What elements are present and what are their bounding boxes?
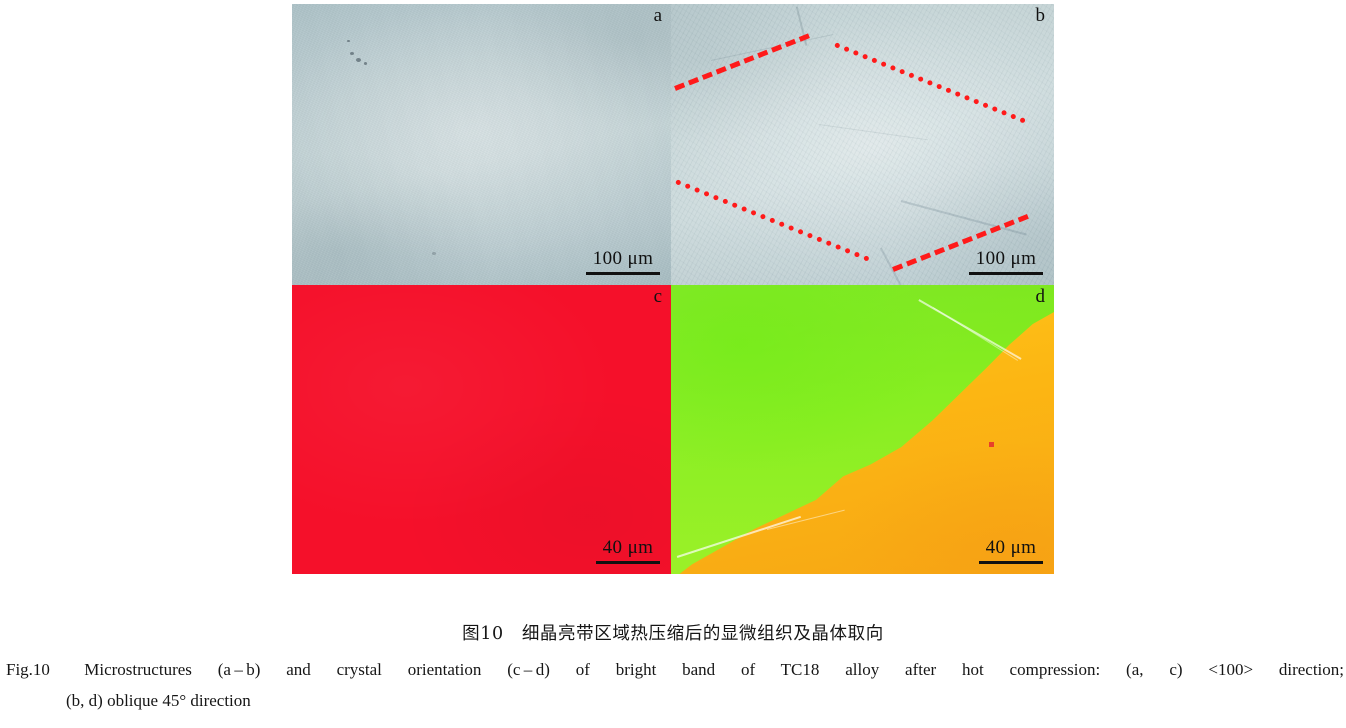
defect-speck <box>432 252 436 255</box>
defect-speck <box>350 52 354 55</box>
figure-caption-english-line2: (b, d) oblique 45° direction <box>6 685 1344 716</box>
figure-caption-chinese: 图10 细晶亮带区域热压缩后的显微组织及晶体取向 <box>0 620 1346 645</box>
scalebar-d: 40 μm <box>979 538 1043 564</box>
figure-caption-english: Fig.10 Microstructures (a – b) and cryst… <box>6 654 1344 716</box>
scalebar-label-c: 40 μm <box>596 538 660 558</box>
figure-image-block: a 100 μm b 100 μm c 40 μm <box>292 4 1054 574</box>
panel-letter-c: c <box>654 287 662 306</box>
scalebar-label-b: 100 μm <box>969 249 1043 269</box>
panel-letter-b: b <box>1036 6 1046 25</box>
scalebar-label-d: 40 μm <box>979 538 1043 558</box>
panel-letter-a: a <box>654 6 662 25</box>
panel-a: a 100 μm <box>292 4 671 285</box>
scalebar-line-a <box>586 272 660 275</box>
figure-caption-english-line1: Fig.10 Microstructures (a – b) and cryst… <box>6 654 1344 685</box>
scalebar-c: 40 μm <box>596 538 660 564</box>
panel-d: d 40 μm <box>671 285 1054 574</box>
scalebar-line-d <box>979 561 1043 564</box>
defect-speck <box>347 40 350 42</box>
scalebar-line-c <box>596 561 660 564</box>
micrograph-b-surface <box>671 4 1054 285</box>
scalebar-line-b <box>969 272 1043 275</box>
micrograph-a-surface <box>292 4 671 285</box>
scalebar-label-a: 100 μm <box>586 249 660 269</box>
scalebar-a: 100 μm <box>586 249 660 275</box>
panel-b: b 100 μm <box>671 4 1054 285</box>
scalebar-b: 100 μm <box>969 249 1043 275</box>
defect-speck <box>356 58 361 62</box>
panel-letter-d: d <box>1036 287 1046 306</box>
ebsd-map-c <box>292 285 671 574</box>
defect-speck <box>364 62 367 65</box>
orientation-point-marker <box>989 442 994 447</box>
panel-c: c 40 μm <box>292 285 671 574</box>
